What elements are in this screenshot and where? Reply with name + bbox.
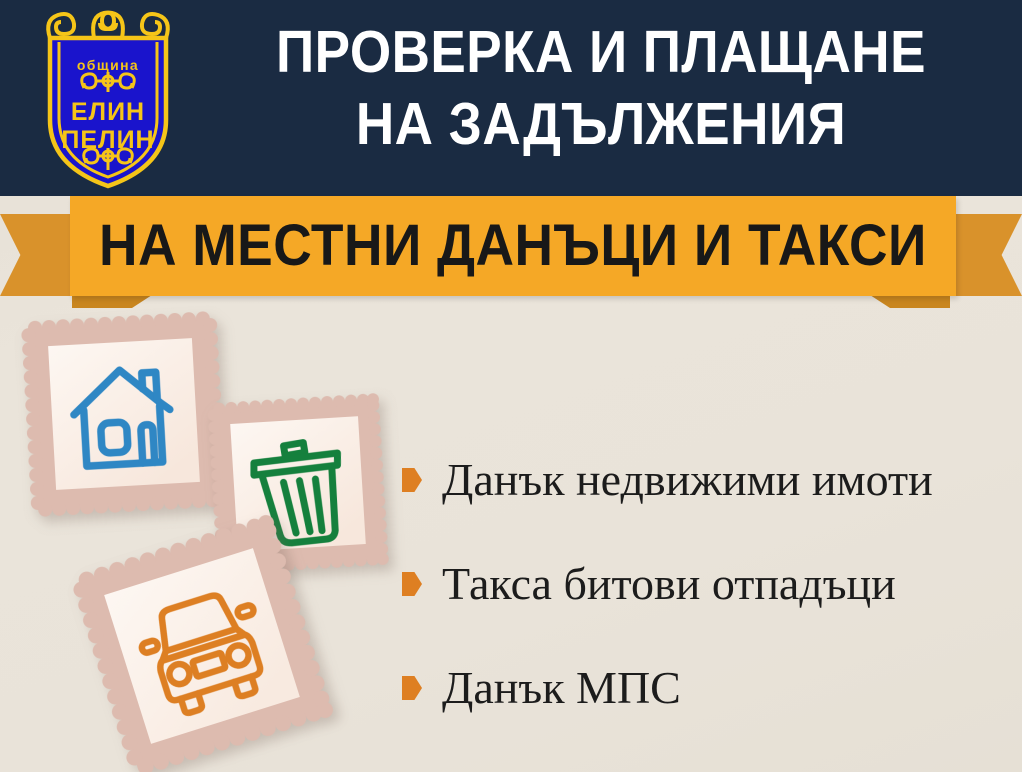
crest-top-label: община [77, 57, 139, 73]
list-item[interactable]: Данък МПС [402, 636, 1012, 740]
title-line-1: ПРОВЕРКА И ПЛАЩАНЕ [237, 16, 966, 88]
crest-name-line-1: ЕЛИН [71, 98, 145, 126]
bullet-arrow-icon [402, 676, 422, 700]
page-title: ПРОВЕРКА И ПЛАЩАНЕ НА ЗАДЪЛЖЕНИЯ [196, 16, 1006, 160]
list-item-label: Такса битови отпадъци [442, 558, 896, 610]
header-bar: община ЕЛИН ПЕЛИН [0, 0, 1022, 196]
list-item[interactable]: Такса битови отпадъци [402, 532, 1012, 636]
poster-canvas: община ЕЛИН ПЕЛИН [0, 0, 1022, 772]
tax-type-list: Данък недвижими имоти Такса битови отпад… [402, 428, 1012, 740]
list-item-label: Данък недвижими имоти [442, 454, 933, 506]
bullet-arrow-icon [402, 572, 422, 596]
title-line-2: НА ЗАДЪЛЖЕНИЯ [237, 88, 966, 160]
ribbon-label: НА МЕСТНИ ДАНЪЦИ И ТАКСИ [99, 215, 927, 277]
list-item-label: Данък МПС [442, 662, 681, 714]
list-item[interactable]: Данък недвижими имоти [402, 428, 1012, 532]
bullet-arrow-icon [402, 468, 422, 492]
ribbon-banner: НА МЕСТНИ ДАНЪЦИ И ТАКСИ [70, 196, 956, 296]
stamp-card-house [21, 311, 228, 518]
municipality-crest-logo: община ЕЛИН ПЕЛИН [28, 8, 188, 190]
